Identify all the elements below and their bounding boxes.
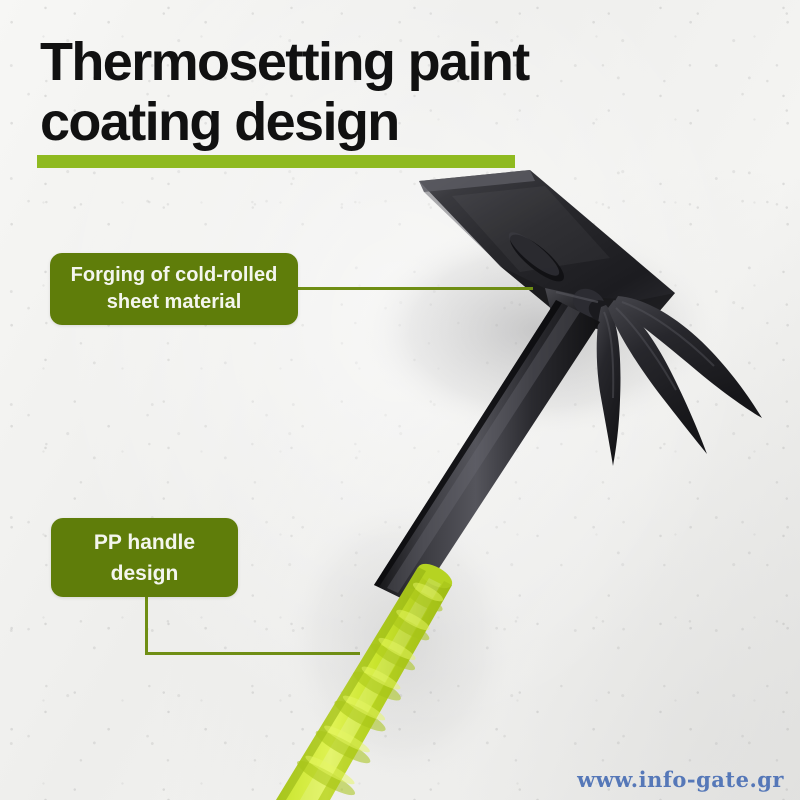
callout-handle-line-2: design xyxy=(111,558,179,589)
product-infographic-poster: Thermosetting paint coating design Forgi… xyxy=(0,0,800,800)
leader-line-handle-horizontal xyxy=(145,652,360,655)
headline-line-2: coating design xyxy=(40,92,740,152)
callout-pp-handle-design: PP handle design xyxy=(51,518,238,597)
headline-underline-bar xyxy=(37,155,515,168)
headline-line-1: Thermosetting paint xyxy=(40,32,740,92)
leader-line-forging xyxy=(298,287,533,290)
callout-handle-line-1: PP handle xyxy=(94,527,195,558)
leader-line-handle-vertical xyxy=(145,597,148,655)
site-watermark: www.info-gate.gr xyxy=(577,767,784,792)
callout-forging-of-cold-rolled-sheet-material: Forging of cold-rolled sheet material xyxy=(50,253,298,325)
callout-forging-line-1: Forging of cold-rolled xyxy=(71,262,278,289)
page-title: Thermosetting paint coating design xyxy=(40,32,740,152)
callout-forging-line-2: sheet material xyxy=(107,289,242,316)
